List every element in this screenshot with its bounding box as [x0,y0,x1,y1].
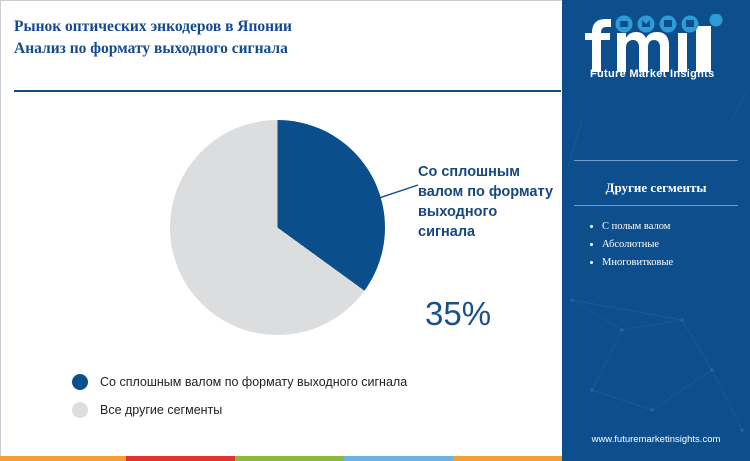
list-item: Многовитковые [602,254,750,272]
legend-item: Со сплошным валом по формату выходного с… [72,374,407,390]
list-item: Абсолютные [602,236,750,254]
pie-chart [170,120,385,335]
pie-slices [170,120,385,335]
panel-divider-bottom [574,205,738,206]
side-panel-list: С полым валом Абсолютные Многовитковые [588,218,750,272]
list-item: С полым валом [602,218,750,236]
panel-divider-top [574,160,738,161]
callout-label: Со сплошным валом по формату выходного с… [418,162,558,242]
callout-leader-line [352,183,420,207]
page-title: Рынок оптических энкодеров в Японии Анал… [14,16,559,60]
bar-segment-green [235,456,344,461]
legend-swatch-icon [72,402,88,418]
title-line-2: Анализ по формату выходного сигнала [14,38,559,60]
bar-segment-lightblue [344,456,453,461]
legend-item-label: Со сплошным валом по формату выходного с… [100,375,407,389]
bottom-color-bar [0,456,562,461]
title-divider [14,90,561,92]
title-line-1: Рынок оптических энкодеров в Японии [14,16,559,38]
website-url: www.futuremarketinsights.com [562,434,750,445]
callout-value: 35% [425,295,491,333]
fmi-logo-icon [584,14,734,76]
logo-tagline: Future Market Insights [590,68,715,80]
side-panel: Future Market Insights Другие сегменты С… [562,0,750,461]
bar-segment-orange [0,456,126,461]
legend-item-label: Все другие сегменты [100,403,222,417]
bar-segment-red [126,456,235,461]
bar-segment-orange-2 [453,456,562,461]
legend-item: Все другие сегменты [72,402,407,418]
chart-legend: Со сплошным валом по формату выходного с… [72,374,407,430]
side-panel-title: Другие сегменты [562,180,750,196]
legend-swatch-icon [72,374,88,390]
